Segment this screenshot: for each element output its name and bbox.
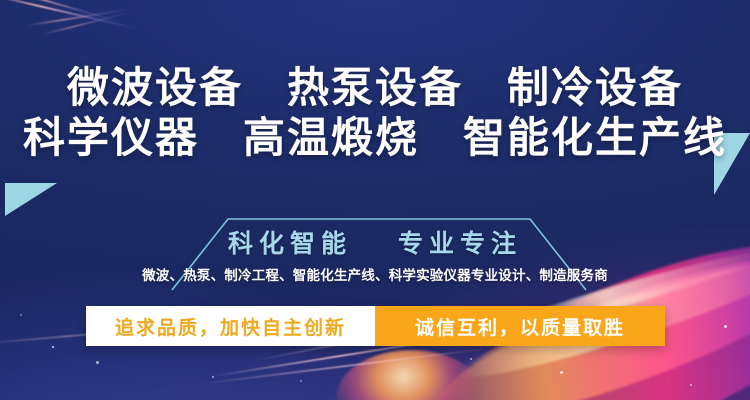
slogan-left: 追求品质，加快自主创新: [86, 306, 375, 346]
caption-line: 微波、热泵、制冷工程、智能化生产线、科学实验仪器专业设计、制造服务商: [0, 264, 750, 284]
subtitle-right: 专业专注: [398, 230, 522, 258]
slogan-bar-group: 追求品质，加快自主创新 诚信互利，以质量取胜: [86, 306, 665, 346]
triangle-left-icon: [5, 183, 57, 216]
slogan-right: 诚信互利，以质量取胜: [375, 306, 665, 346]
headline: 微波设备 热泵设备 制冷设备 科学仪器 高温煅烧 智能化生产线: [0, 63, 750, 162]
subtitle-left: 科化智能: [228, 230, 352, 258]
promo-banner: 微波设备 热泵设备 制冷设备 科学仪器 高温煅烧 智能化生产线 科化智能 专业专…: [0, 0, 750, 400]
headline-line-1: 微波设备 热泵设备 制冷设备: [0, 63, 750, 113]
headline-line-2: 科学仪器 高温煅烧 智能化生产线: [0, 113, 750, 163]
subtitle: 科化智能 专业专注: [0, 224, 750, 260]
